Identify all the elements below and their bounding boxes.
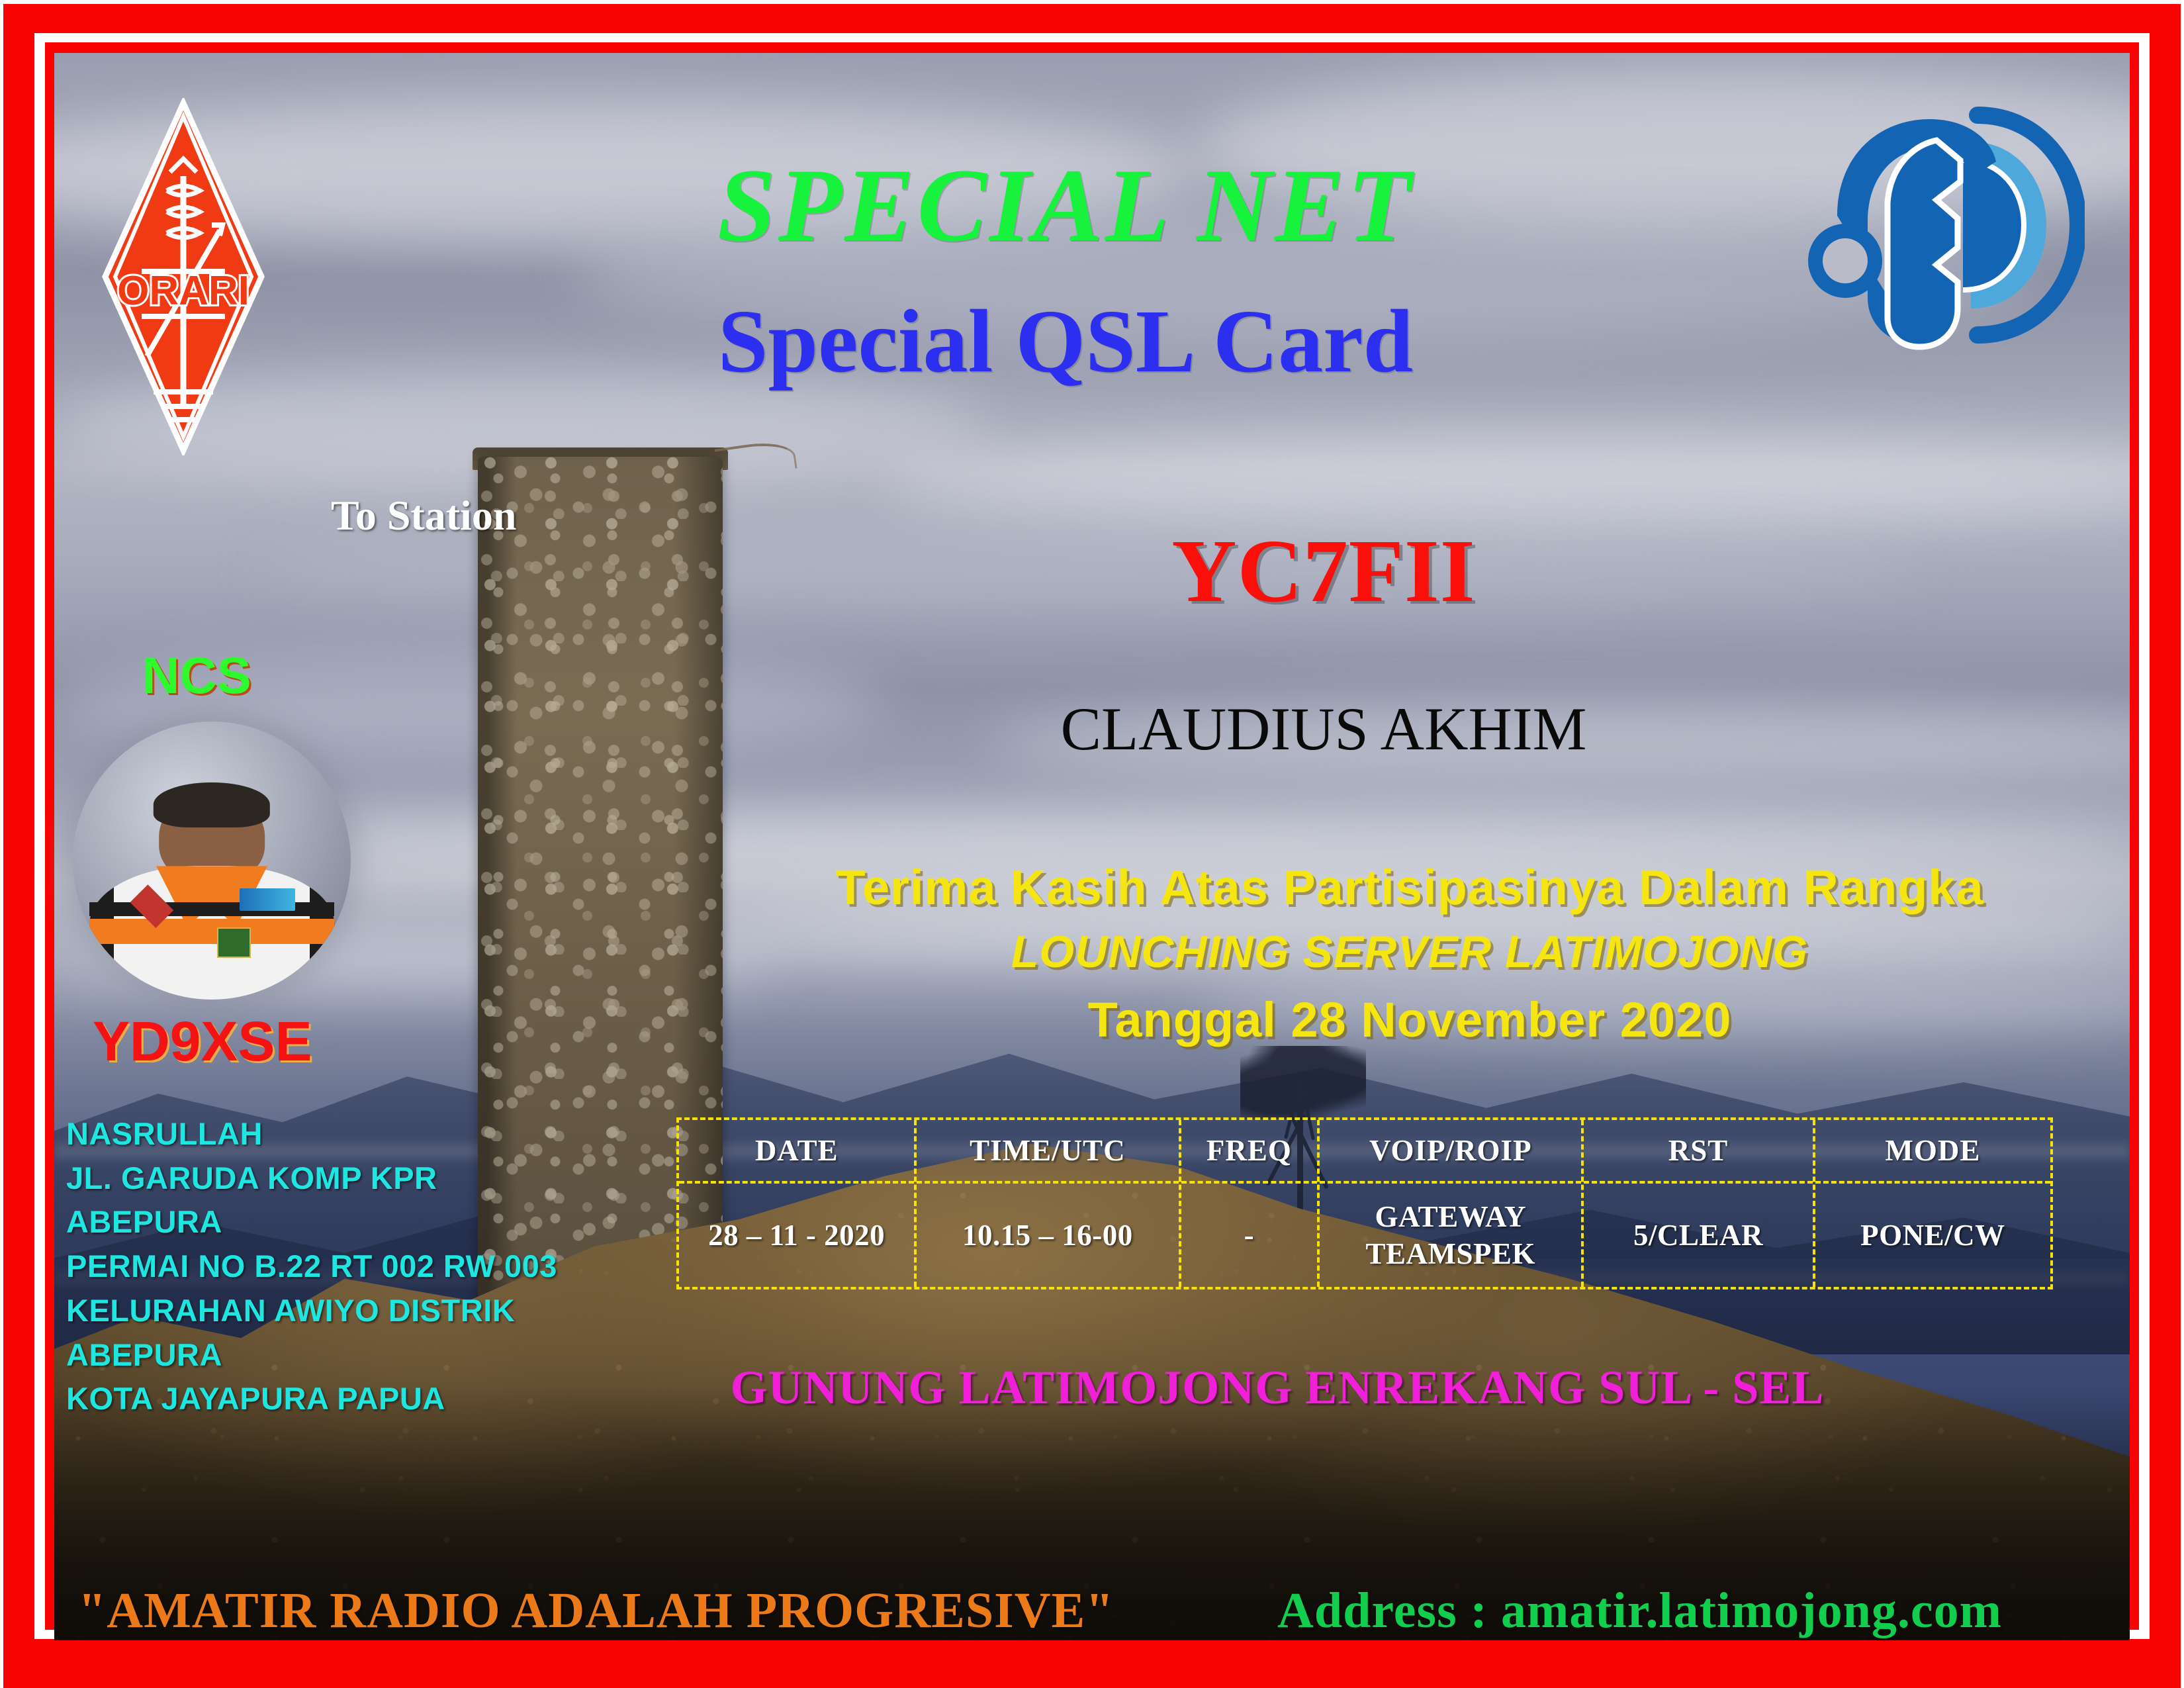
address-line: KELURAHAN AWIYO DISTRIK <box>66 1289 557 1333</box>
ncs-callsign: YD9XSE <box>93 1009 312 1074</box>
table-column-mode: MODE PONE/CW <box>1815 1120 2050 1287</box>
table-cell-voip: GATEWAY TEAMSPEK <box>1320 1184 1581 1287</box>
avatar-uniform-stripe <box>89 902 334 916</box>
table-cell-freq: - <box>1181 1184 1318 1287</box>
ncs-operator-avatar <box>73 722 351 1000</box>
recipient-callsign: YC7FII <box>927 526 1721 616</box>
qso-log-table: DATE 28 – 11 - 2020 TIME/UTC 10.15 – 16-… <box>676 1117 2053 1289</box>
table-cell-time: 10.15 – 16-00 <box>917 1184 1178 1287</box>
table-header-rst: RST <box>1584 1120 1812 1184</box>
page-subtitle-qsl-card: Special QSL Card <box>424 297 1707 387</box>
table-header-freq: FREQ <box>1181 1120 1318 1184</box>
ncs-label: NCS <box>142 645 251 706</box>
address-line: ABEPURA <box>66 1333 557 1378</box>
qsl-card-frame: ORARI SPECIAL NET Special QSL Card To St… <box>0 0 2184 1688</box>
thanks-line-2-event: LOUNCHING SERVER LATIMOJONG <box>748 927 2071 977</box>
headset-face-waves-logo-icon <box>1807 99 2085 351</box>
address-line: ABEPURA <box>66 1200 557 1244</box>
avatar-id-tag <box>217 927 250 958</box>
svg-text:ORARI: ORARI <box>117 268 250 314</box>
avatar-hair <box>154 782 270 827</box>
table-column-rst: RST 5/CLEAR <box>1584 1120 1815 1287</box>
table-header-mode: MODE <box>1815 1120 2050 1184</box>
avatar-uniform-belt <box>89 919 334 944</box>
card-content-overlay: ORARI SPECIAL NET Special QSL Card To St… <box>0 0 2184 1688</box>
thanks-line-3-date: Tanggal 28 November 2020 <box>748 993 2071 1047</box>
table-column-voip: VOIP/ROIP GATEWAY TEAMSPEK <box>1320 1120 1584 1287</box>
table-cell-mode: PONE/CW <box>1815 1184 2050 1287</box>
table-column-freq: FREQ - <box>1181 1120 1320 1287</box>
table-header-time: TIME/UTC <box>917 1120 1178 1184</box>
footer-motto: "AMATIR RADIO ADALAH PROGRESIVE" <box>78 1582 1114 1640</box>
mailing-address-block: NASRULLAH JL. GARUDA KOMP KPR ABEPURA PE… <box>66 1112 557 1421</box>
location-caption: GUNUNG LATIMOJONG ENREKANG SUL - SEL <box>649 1360 1906 1415</box>
address-line: NASRULLAH <box>66 1112 557 1156</box>
table-cell-rst: 5/CLEAR <box>1584 1184 1812 1287</box>
table-cell-date: 28 – 11 - 2020 <box>679 1184 914 1287</box>
avatar-right-badge <box>240 888 295 911</box>
table-header-date: DATE <box>679 1120 914 1184</box>
thanks-line-1: Terima Kasih Atas Partisipasinya Dalam R… <box>748 861 2071 914</box>
to-station-label: To Station <box>331 491 516 540</box>
address-line: KOTA JAYAPURA PAPUA <box>66 1377 557 1421</box>
footer-website-address: Address : amatir.latimojong.com <box>1277 1582 2002 1640</box>
table-column-date: DATE 28 – 11 - 2020 <box>679 1120 917 1287</box>
table-header-voip: VOIP/ROIP <box>1320 1120 1581 1184</box>
address-line: PERMAI NO B.22 RT 002 RW 003 <box>66 1244 557 1289</box>
page-title-special-net: SPECIAL NET <box>424 154 1707 258</box>
recipient-operator-name: CLAUDIUS AKHIM <box>860 698 1787 759</box>
orari-logo-icon: ORARI <box>101 98 266 455</box>
table-column-time: TIME/UTC 10.15 – 16-00 <box>917 1120 1181 1287</box>
address-line: JL. GARUDA KOMP KPR <box>66 1156 557 1201</box>
thanks-message-block: Terima Kasih Atas Partisipasinya Dalam R… <box>748 861 2071 1047</box>
